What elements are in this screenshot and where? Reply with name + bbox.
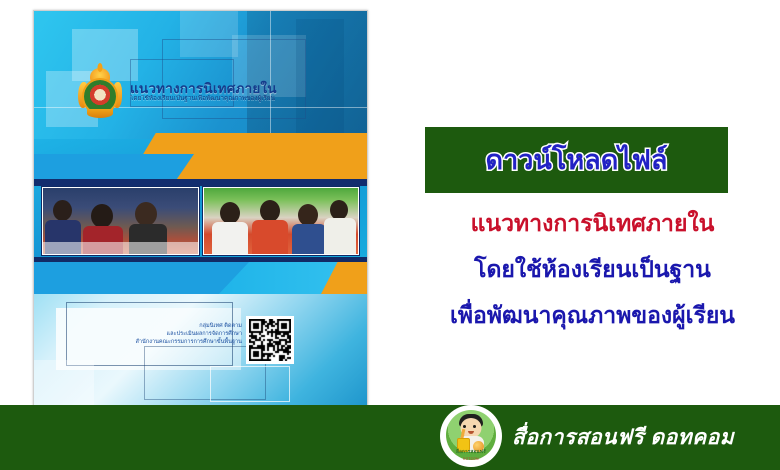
site-footer: สื่อการสอนฟรี DOTCOM สื่อการสอนฟรี ดอทคอ… xyxy=(0,405,780,470)
person-head xyxy=(135,202,157,226)
siikarnsornfree-logo-icon: สื่อการสอนฟรี DOTCOM xyxy=(440,405,502,467)
thai-ministry-emblem-icon xyxy=(82,68,118,118)
person-torso xyxy=(252,220,288,254)
cover-photo-1 xyxy=(42,187,199,255)
brand-name: สื่อการสอนฟรี ดอทคอม xyxy=(512,421,734,454)
headline-line-1: แนวทางการนิเทศภายใน xyxy=(410,200,775,246)
desk-surface xyxy=(43,242,198,254)
headline-block: แนวทางการนิเทศภายใน โดยใช้ห้องเรียนเป็นฐ… xyxy=(410,200,775,338)
person-head xyxy=(53,200,72,221)
cover-mid-arrow xyxy=(34,262,249,294)
emblem-base xyxy=(87,109,113,118)
cover-photo-strip xyxy=(42,187,359,255)
person-torso xyxy=(212,222,248,254)
deco-line xyxy=(270,11,271,139)
cover-bottom-pane: กลุ่มนิเทศ ติดตาม และประเมินผลการจัดการศ… xyxy=(34,294,367,406)
headline-line-3: เพื่อพัฒนาคุณภาพของผู้เรียน xyxy=(410,292,775,338)
cover-subtitle: โดยใช้ห้องเรียนเป็นฐานเพื่อพัฒนาคุณภาพขอ… xyxy=(130,95,345,103)
deco-rect xyxy=(34,360,94,406)
cover-credit-line: กลุ่มนิเทศ ติดตาม xyxy=(82,322,242,330)
cover-credit-block: กลุ่มนิเทศ ติดตาม และประเมินผลการจัดการศ… xyxy=(82,322,242,347)
person-head xyxy=(330,200,348,220)
cover-credit-line: และประเมินผลการจัดการศึกษา xyxy=(82,330,242,338)
cover-credit-line: สำนักงานคณะกรรมการการศึกษาขั้นพื้นฐาน xyxy=(82,338,242,346)
person-head xyxy=(260,200,280,222)
logo-character-eye xyxy=(473,425,476,428)
logo-caption: สื่อการสอนฟรี xyxy=(440,449,502,456)
cover-navy-rule xyxy=(34,179,367,186)
page-root: แนวทางการนิเทศภายใน โดยใช้ห้องเรียนเป็นฐ… xyxy=(0,0,780,470)
person-torso xyxy=(324,218,356,254)
person-head xyxy=(298,204,318,226)
deco-outline xyxy=(210,366,290,402)
book-cover-canvas: แนวทางการนิเทศภายใน โดยใช้ห้องเรียนเป็นฐ… xyxy=(34,11,367,406)
cover-photo-2 xyxy=(203,187,360,255)
book-cover-image: แนวทางการนิเทศภายใน โดยใช้ห้องเรียนเป็นฐ… xyxy=(33,10,368,407)
download-banner[interactable]: ดาวน์โหลดไฟล์ xyxy=(425,127,728,193)
headline-line-2: โดยใช้ห้องเรียนเป็นฐาน xyxy=(410,246,775,292)
brand-block: สื่อการสอนฟรี DOTCOM สื่อการสอนฟรี ดอทคอ… xyxy=(440,405,734,470)
person-torso xyxy=(292,224,326,254)
qr-code-icon xyxy=(246,316,294,364)
logo-subcaption: DOTCOM xyxy=(440,457,502,461)
download-banner-label: ดาวน์โหลดไฟล์ xyxy=(486,147,668,174)
person-head xyxy=(220,202,240,224)
person-head xyxy=(91,204,113,228)
logo-character-eye xyxy=(463,425,466,428)
cover-blue-band xyxy=(34,154,194,182)
